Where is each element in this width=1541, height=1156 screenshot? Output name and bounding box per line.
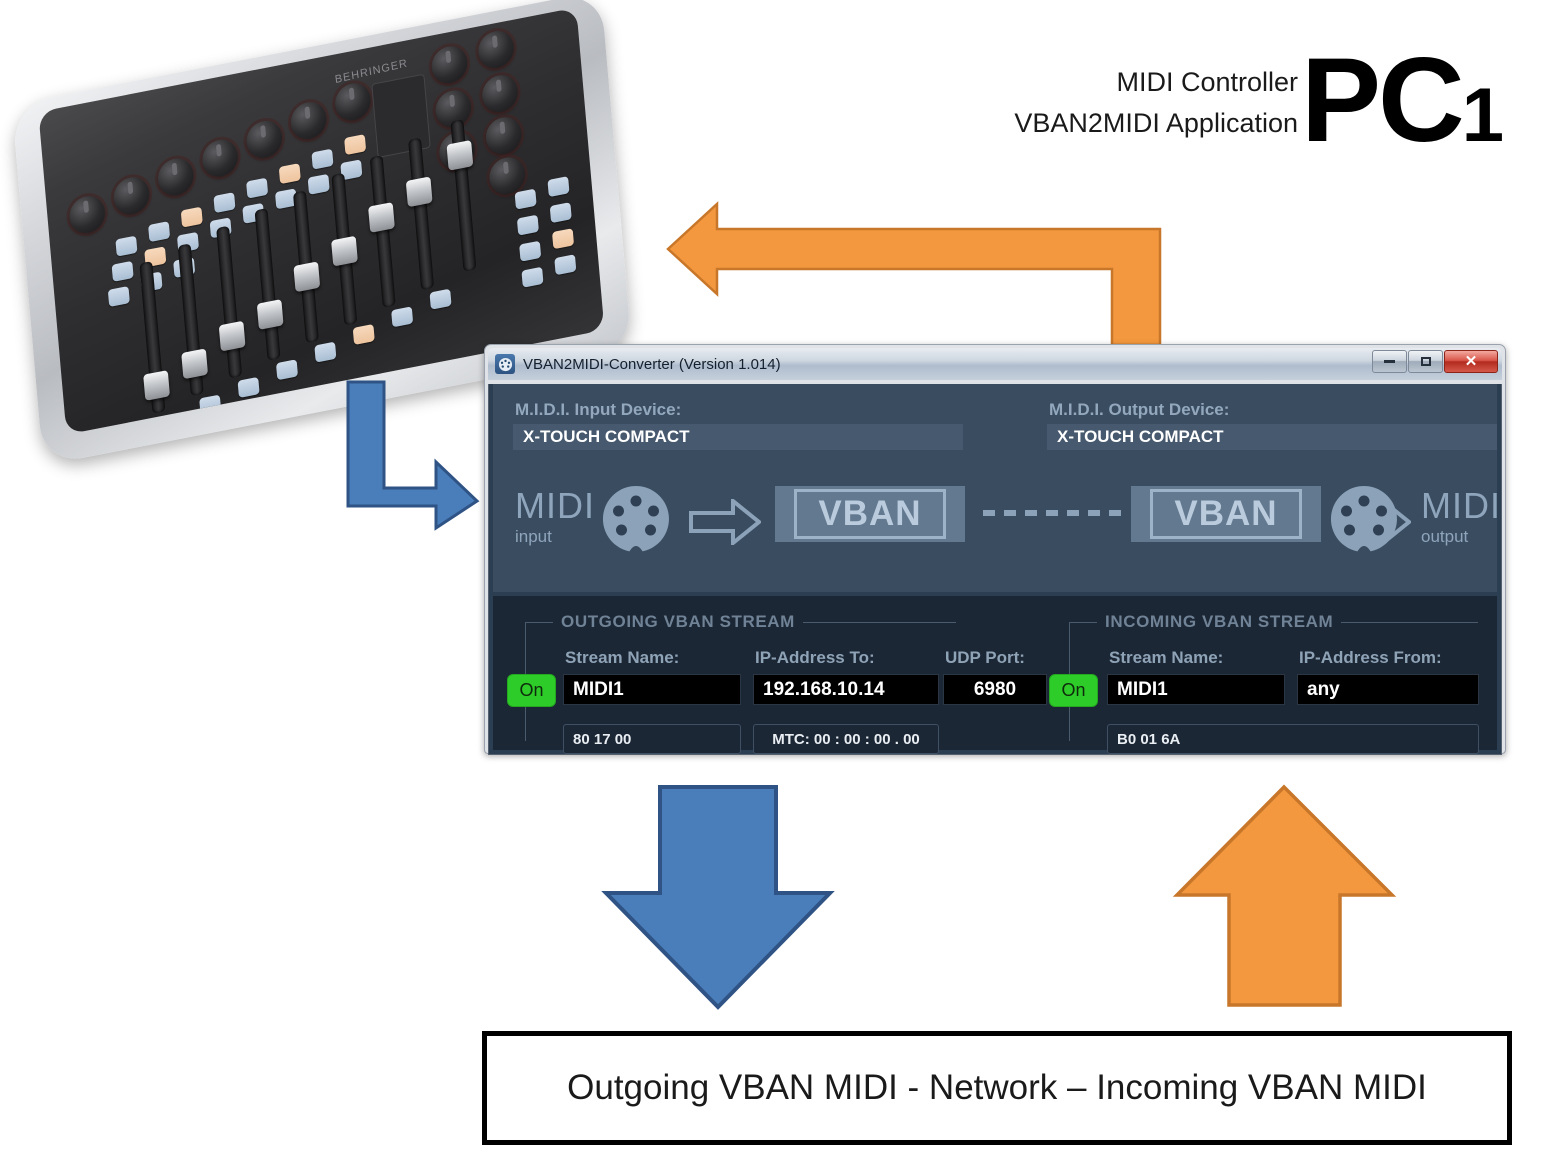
pad-button bbox=[344, 134, 366, 155]
incoming-stream-name-label: Stream Name: bbox=[1109, 648, 1223, 668]
window-body: M.I.D.I. Input Device: X-TOUCH COMPACT M… bbox=[488, 384, 1502, 755]
blue-down-arrow bbox=[598, 783, 838, 1013]
orange-up-arrow bbox=[1172, 783, 1397, 1011]
network-caption-box: Outgoing VBAN MIDI - Network – Incoming … bbox=[482, 1031, 1512, 1145]
pad-button bbox=[552, 228, 574, 249]
dash-segment bbox=[1067, 510, 1079, 516]
pc-number: 1 bbox=[1462, 73, 1504, 158]
network-caption-text: Outgoing VBAN MIDI - Network – Incoming … bbox=[567, 1068, 1427, 1108]
incoming-on-label: On bbox=[1061, 680, 1085, 701]
midi-output-device-label: M.I.D.I. Output Device: bbox=[1049, 400, 1229, 420]
channel-fader bbox=[370, 155, 396, 308]
device-display bbox=[371, 74, 430, 158]
rotary-knob bbox=[112, 174, 150, 217]
midi-input-flow-sub: input bbox=[515, 528, 595, 545]
maximize-button[interactable] bbox=[1408, 350, 1443, 373]
rotary-knob bbox=[289, 99, 327, 142]
fader-cap bbox=[181, 348, 208, 379]
din-connector-icon bbox=[495, 354, 515, 374]
rotary-knob bbox=[484, 114, 522, 157]
pad-button bbox=[238, 377, 260, 398]
rotary-knob bbox=[430, 43, 468, 86]
fader-cap bbox=[368, 202, 395, 233]
maximize-icon bbox=[1421, 357, 1431, 366]
outgoing-mtc-value: MTC: 00 : 00 : 00 . 00 bbox=[772, 731, 920, 748]
fader-cap bbox=[257, 299, 284, 330]
pad-button bbox=[115, 236, 137, 257]
outgoing-port-value: 6980 bbox=[974, 679, 1016, 701]
fader-cap bbox=[406, 176, 433, 207]
channel-fader bbox=[331, 173, 357, 326]
close-icon: ✕ bbox=[1465, 354, 1478, 369]
dash-segment bbox=[983, 510, 995, 516]
din-connector-input-icon bbox=[601, 484, 671, 556]
midi-output-device-field[interactable]: X-TOUCH COMPACT bbox=[1047, 424, 1497, 450]
header-line-1: MIDI Controller bbox=[1014, 62, 1298, 103]
outgoing-ip-label: IP-Address To: bbox=[755, 648, 875, 668]
header-line-2: VBAN2MIDI Application bbox=[1014, 103, 1298, 144]
outgoing-group-title: OUTGOING VBAN STREAM bbox=[553, 612, 803, 632]
incoming-midi-monitor-value: B0 01 6A bbox=[1117, 731, 1180, 748]
outgoing-ip-input[interactable]: 192.168.10.14 bbox=[753, 674, 939, 705]
window-title: VBAN2MIDI-Converter (Version 1.014) bbox=[523, 356, 781, 373]
header-subtitle: MIDI Controller VBAN2MIDI Application bbox=[1014, 62, 1298, 144]
dash-segment bbox=[1004, 510, 1016, 516]
channel-fader bbox=[255, 208, 281, 361]
pad-button bbox=[521, 267, 543, 288]
rotary-knob bbox=[68, 193, 106, 236]
minimize-button[interactable] bbox=[1372, 350, 1407, 373]
pad-button bbox=[213, 192, 235, 213]
window-controls[interactable]: ✕ bbox=[1372, 350, 1498, 373]
channel-fader bbox=[178, 243, 204, 396]
midi-output-flow-sub: output bbox=[1421, 528, 1501, 545]
midi-flow-diagram: MIDI input VBAN bbox=[493, 472, 1497, 577]
pad-button bbox=[353, 324, 375, 345]
pad-button bbox=[314, 342, 336, 363]
outgoing-port-input[interactable]: 6980 bbox=[943, 674, 1047, 705]
flow-arrow-right-icon bbox=[689, 499, 761, 545]
incoming-stream-name-value: MIDI1 bbox=[1117, 679, 1168, 701]
vban-incoming-label: VBAN bbox=[1174, 494, 1277, 534]
window-titlebar[interactable]: VBAN2MIDI-Converter (Version 1.014) ✕ bbox=[488, 348, 1502, 380]
close-button[interactable]: ✕ bbox=[1444, 350, 1498, 373]
outgoing-midi-monitor-value: 80 17 00 bbox=[573, 731, 631, 748]
pad-button bbox=[246, 178, 268, 199]
midi-output-device-value: X-TOUCH COMPACT bbox=[1057, 427, 1224, 447]
rotary-knob bbox=[201, 137, 239, 180]
orange-elbow-arrow bbox=[660, 170, 1205, 350]
pad-button bbox=[550, 202, 572, 223]
vban-incoming-box: VBAN bbox=[1131, 486, 1321, 542]
fader-cap bbox=[293, 261, 320, 292]
pad-button bbox=[308, 174, 330, 195]
dash-segment bbox=[1046, 510, 1058, 516]
pad-button bbox=[391, 306, 413, 327]
network-dash-link bbox=[983, 510, 1121, 516]
vban-outgoing-inner: VBAN bbox=[794, 489, 946, 539]
vban-outgoing-label: VBAN bbox=[818, 494, 921, 534]
pad-button bbox=[515, 189, 537, 210]
pad-button bbox=[517, 215, 539, 236]
vban-outgoing-box: VBAN bbox=[775, 486, 965, 542]
outgoing-stream-name-value: MIDI1 bbox=[573, 679, 624, 701]
incoming-midi-monitor: B0 01 6A bbox=[1107, 724, 1479, 754]
outgoing-stream-name-label: Stream Name: bbox=[565, 648, 679, 668]
vban-incoming-inner: VBAN bbox=[1150, 489, 1302, 539]
device-panel: M.I.D.I. Input Device: X-TOUCH COMPACT M… bbox=[493, 384, 1497, 592]
midi-input-device-field[interactable]: X-TOUCH COMPACT bbox=[513, 424, 963, 450]
outgoing-ip-value: 192.168.10.14 bbox=[763, 679, 885, 701]
channel-fader bbox=[408, 137, 434, 290]
pc-text: PC bbox=[1301, 33, 1462, 167]
vban2midi-window[interactable]: VBAN2MIDI-Converter (Version 1.014) ✕ M.… bbox=[484, 344, 1506, 754]
incoming-ip-label: IP-Address From: bbox=[1299, 648, 1442, 668]
outgoing-port-label: UDP Port: bbox=[945, 648, 1025, 668]
pad-button bbox=[148, 221, 170, 242]
incoming-stream-name-input[interactable]: MIDI1 bbox=[1107, 674, 1285, 705]
dash-segment bbox=[1109, 510, 1121, 516]
pad-button bbox=[519, 241, 541, 262]
midi-output-flow-title: MIDI bbox=[1421, 488, 1501, 524]
minimize-icon bbox=[1384, 360, 1395, 363]
outgoing-stream-name-input[interactable]: MIDI1 bbox=[563, 674, 741, 705]
rotary-knob bbox=[157, 155, 195, 198]
pc-label: PC1 bbox=[1301, 40, 1504, 176]
outgoing-on-toggle[interactable]: On bbox=[507, 674, 556, 707]
outgoing-mtc-monitor: MTC: 00 : 00 : 00 . 00 bbox=[753, 724, 939, 754]
midi-input-flow-title: MIDI bbox=[515, 488, 595, 524]
channel-fader bbox=[293, 190, 319, 343]
stream-settings-area: OUTGOING VBAN STREAM On Stream Name: MID… bbox=[493, 596, 1497, 750]
pad-button bbox=[108, 286, 130, 307]
incoming-group-title: INCOMING VBAN STREAM bbox=[1097, 612, 1341, 632]
fader-cap bbox=[143, 370, 170, 401]
fader-cap bbox=[331, 236, 358, 267]
midi-output-flow-label: MIDI output bbox=[1421, 488, 1501, 545]
fader-cap bbox=[446, 140, 473, 171]
outgoing-on-label: On bbox=[519, 680, 543, 701]
dash-segment bbox=[1025, 510, 1037, 516]
midi-input-device-value: X-TOUCH COMPACT bbox=[523, 427, 690, 447]
pad-button bbox=[276, 359, 298, 380]
pad-button bbox=[429, 289, 451, 310]
rotary-knob bbox=[477, 28, 515, 71]
incoming-on-toggle[interactable]: On bbox=[1049, 674, 1098, 707]
fader-cap bbox=[219, 321, 246, 352]
incoming-ip-value: any bbox=[1307, 679, 1340, 701]
midi-input-flow-label: MIDI input bbox=[515, 488, 595, 545]
incoming-ip-input[interactable]: any bbox=[1297, 674, 1479, 705]
pad-button bbox=[279, 163, 301, 184]
rotary-knob bbox=[481, 72, 519, 115]
channel-fader bbox=[216, 226, 242, 379]
header-block: MIDI Controller VBAN2MIDI Application PC… bbox=[1020, 50, 1520, 170]
pad-button bbox=[554, 254, 576, 275]
midi-input-device-label: M.I.D.I. Input Device: bbox=[515, 400, 681, 420]
outgoing-midi-monitor: 80 17 00 bbox=[563, 724, 741, 754]
rotary-knob bbox=[245, 118, 283, 161]
pad-button bbox=[311, 149, 333, 170]
dash-segment bbox=[1088, 510, 1100, 516]
din-connector-output-icon bbox=[1329, 484, 1399, 556]
pad-button bbox=[112, 261, 134, 282]
rotary-knob bbox=[334, 80, 372, 123]
blue-elbow-arrow bbox=[336, 378, 486, 533]
pad-button bbox=[181, 207, 203, 228]
pad-button bbox=[547, 176, 569, 197]
